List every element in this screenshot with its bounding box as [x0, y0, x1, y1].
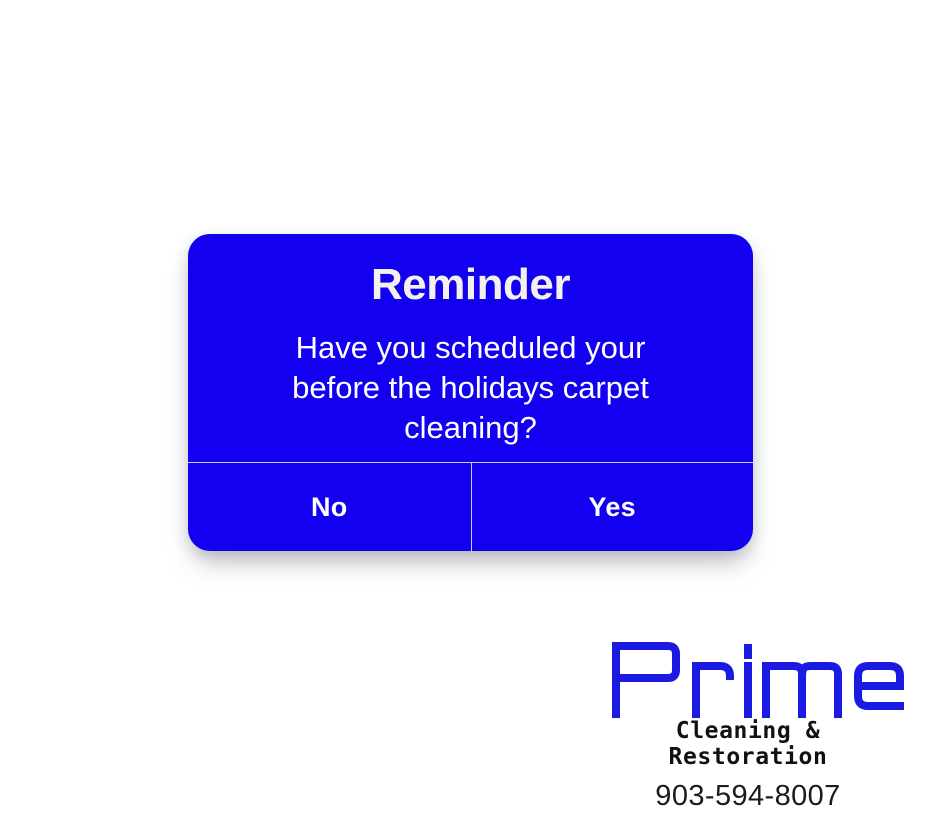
dialog-no-button[interactable]: No — [188, 463, 471, 551]
dialog-yes-button[interactable]: Yes — [471, 463, 754, 551]
dialog-action-bar: No Yes — [188, 462, 753, 551]
brand-tagline: Cleaning & Restoration — [600, 718, 896, 770]
reminder-dialog: Reminder Have you scheduled your before … — [188, 234, 753, 551]
dialog-message: Have you scheduled your before the holid… — [256, 308, 686, 448]
prime-wordmark-logo — [608, 636, 908, 718]
poster-canvas: Reminder Have you scheduled your before … — [0, 0, 940, 788]
dialog-title: Reminder — [371, 258, 570, 308]
brand-block: Cleaning & Restoration 903-594-8007 — [600, 636, 910, 784]
brand-phone-number: 903-594-8007 — [600, 770, 896, 813]
dialog-content: Reminder Have you scheduled your before … — [188, 234, 753, 462]
